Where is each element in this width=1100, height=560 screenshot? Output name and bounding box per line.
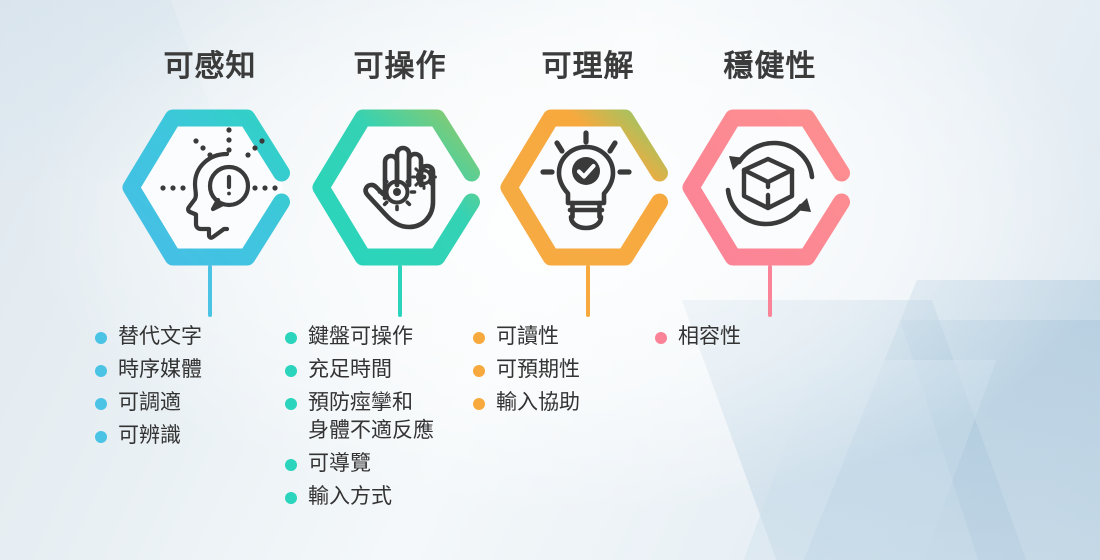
list-item-label: 輸入方式 [308, 483, 392, 511]
list-item-label: 替代文字 [118, 323, 202, 351]
list-item-label: 可調適 [118, 389, 181, 417]
connector-stem-4 [768, 265, 772, 317]
bullet-dot [655, 332, 667, 344]
list-item-label: 預防痙攣和 身體不適反應 [308, 389, 434, 445]
list-item-label: 鍵盤可操作 [308, 323, 413, 351]
bullet-dot [473, 332, 485, 344]
list-item-label: 可辨識 [118, 422, 181, 450]
list-item: 可預期性 [473, 356, 703, 384]
gear-large [380, 175, 415, 210]
bullet-dot [285, 492, 297, 504]
list-item-label: 時序媒體 [118, 356, 202, 384]
bullet-dot [473, 398, 485, 410]
bullet-dot [95, 332, 107, 344]
bullet-dot [285, 398, 297, 410]
list-item-label: 可導覽 [308, 450, 371, 478]
bullet-dot [285, 365, 297, 377]
connector-stem-2 [398, 265, 402, 317]
list-item-label: 可預期性 [496, 356, 580, 384]
check-badge [572, 157, 600, 185]
list-item-label: 可讀性 [496, 323, 559, 351]
gear-small [413, 166, 436, 189]
list-item: 輸入方式 [285, 483, 515, 511]
list-item: 可導覽 [285, 450, 515, 478]
bullet-dot [95, 431, 107, 443]
feature-list-4: 相容性 [655, 323, 885, 356]
bullet-dot [473, 365, 485, 377]
list-item-label: 相容性 [678, 323, 741, 351]
column-title-4: 穩健性 [655, 52, 885, 82]
list-item: 輸入協助 [473, 389, 703, 417]
bullet-dot [95, 398, 107, 410]
connector-stem-1 [208, 265, 212, 317]
bullet-dot [285, 459, 297, 471]
list-item: 相容性 [655, 323, 885, 351]
list-item-label: 輸入協助 [496, 389, 580, 417]
connector-stem-3 [586, 265, 590, 317]
columns-container: 可感知 [0, 0, 1100, 560]
bullet-dot [285, 332, 297, 344]
infographic-canvas: 可感知 [0, 0, 1100, 560]
hexagon-badge-4[interactable] [655, 100, 885, 275]
list-item-label: 充足時間 [308, 356, 392, 384]
bullet-dot [95, 365, 107, 377]
